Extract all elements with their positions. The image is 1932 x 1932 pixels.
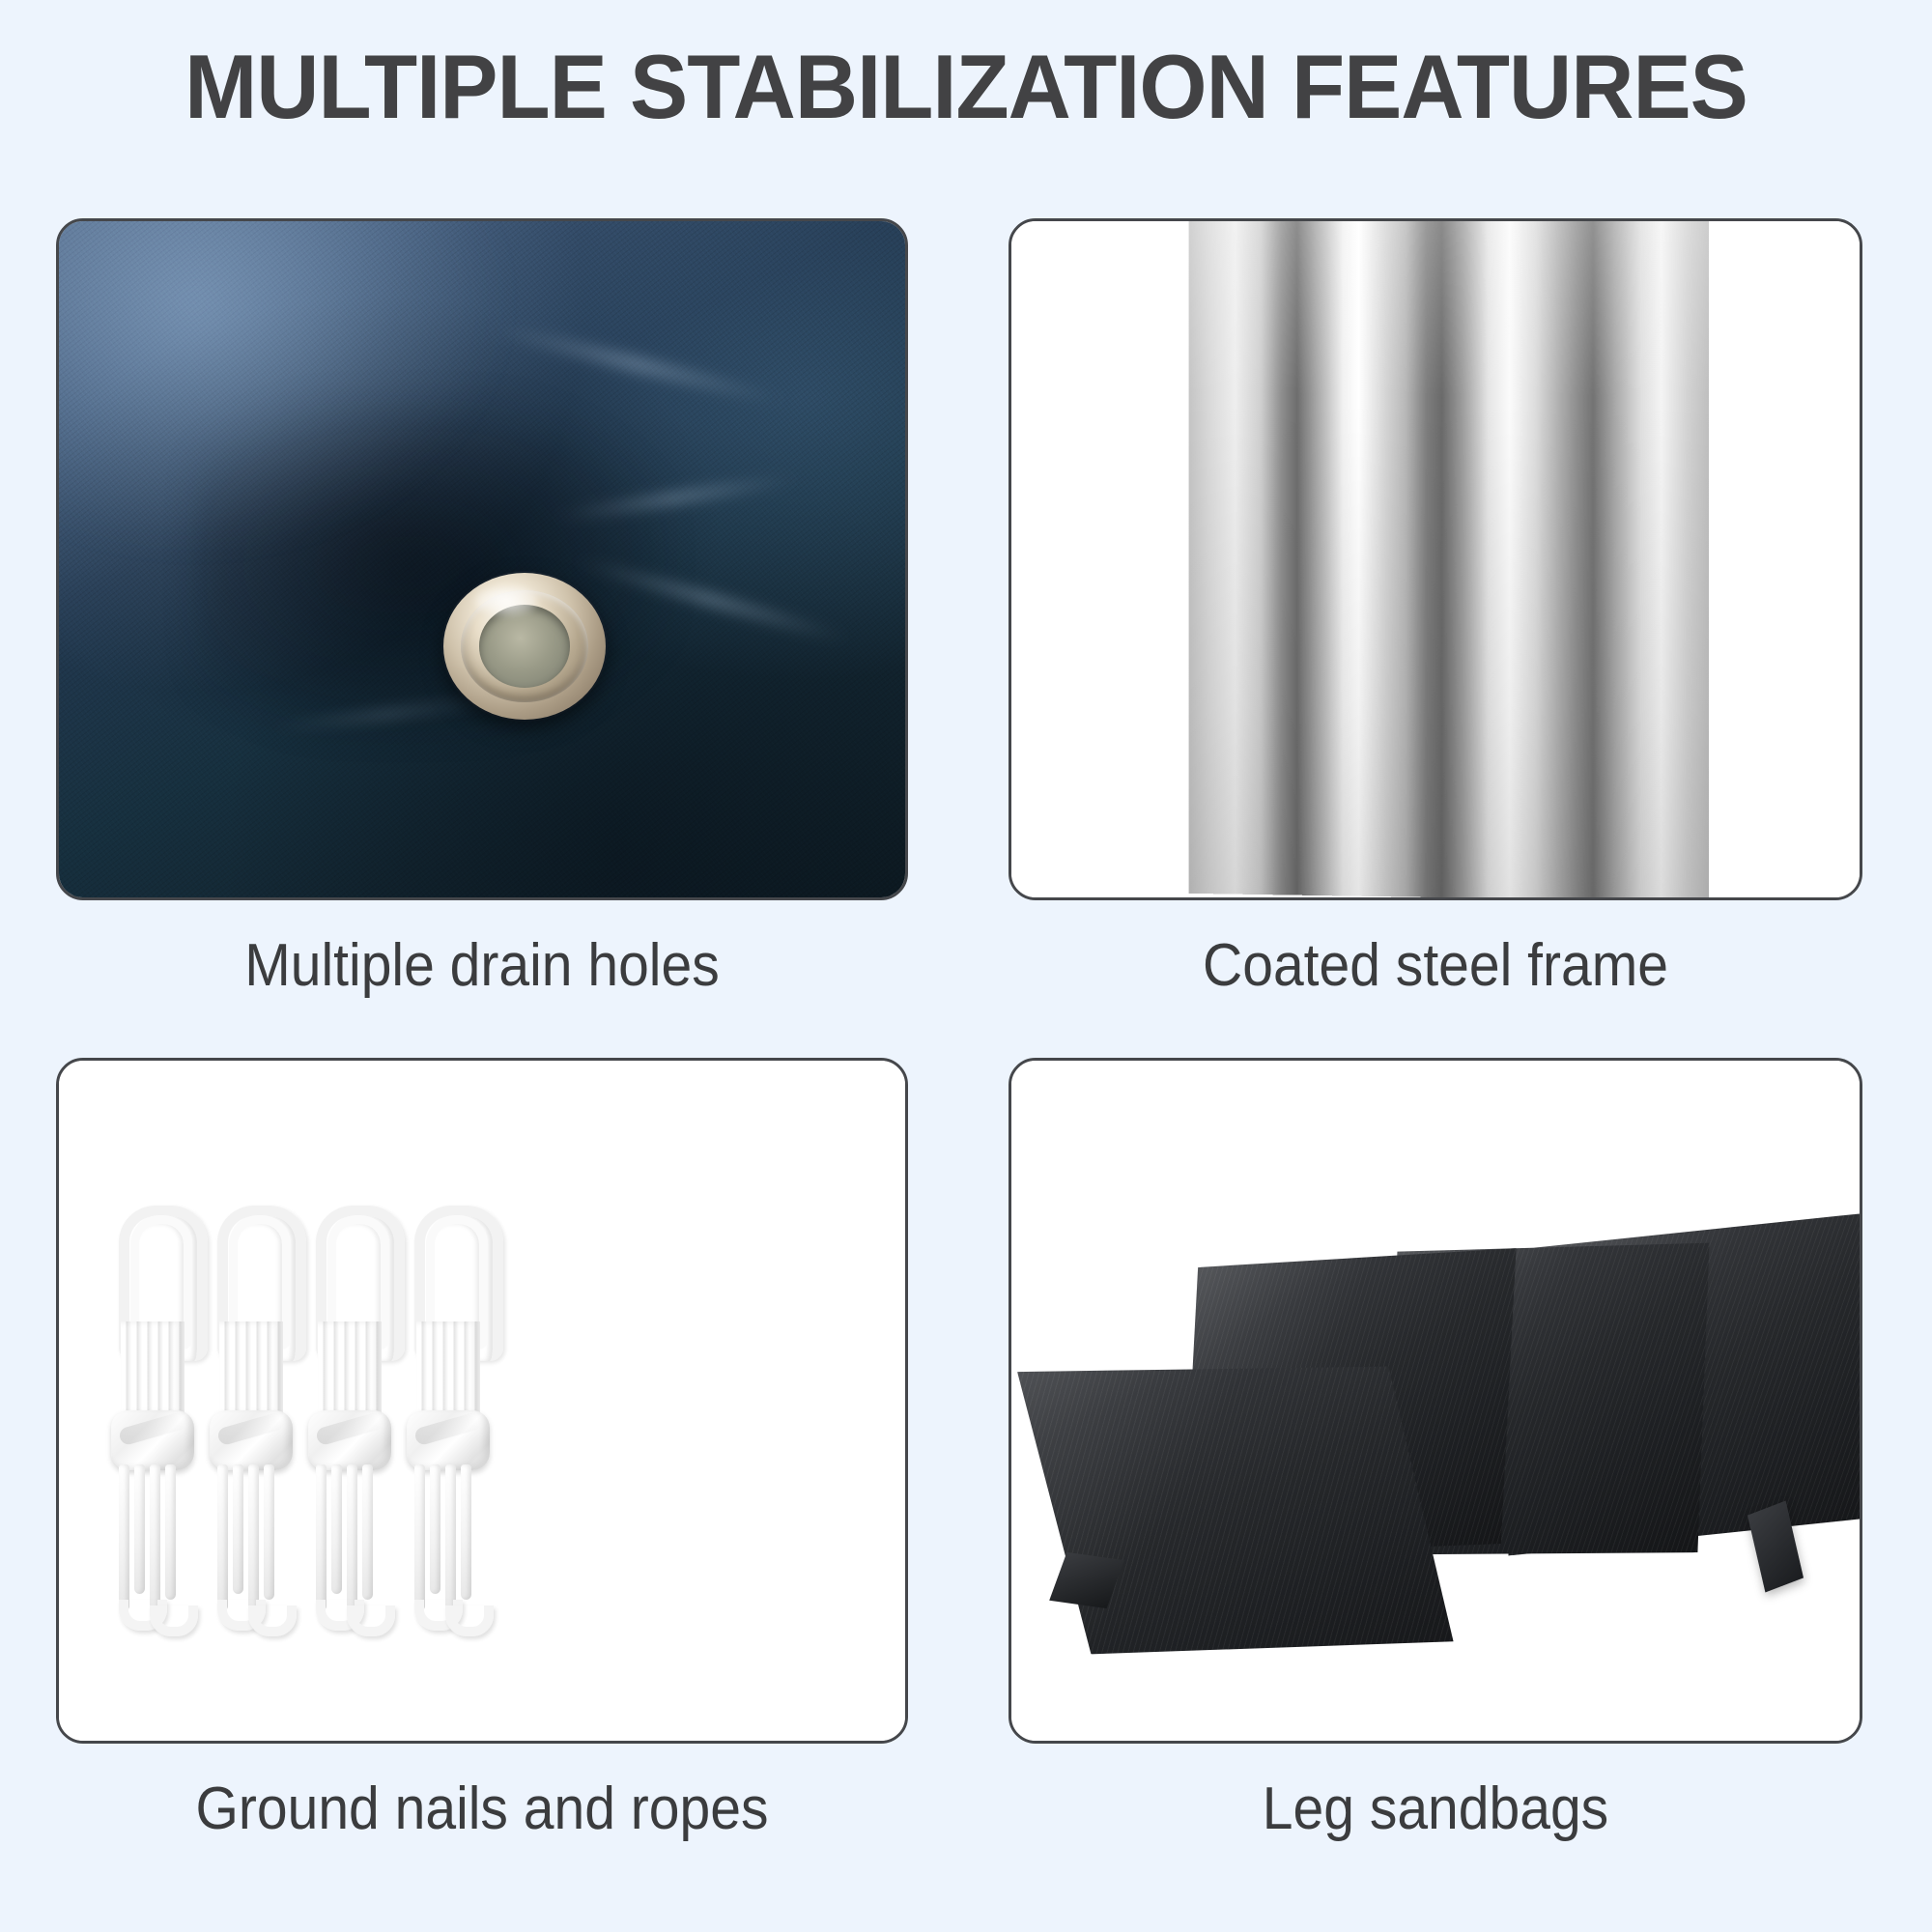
feature-image-drain-holes <box>56 218 908 900</box>
sandbag-photo <box>1011 1061 1860 1741</box>
hardware-photo <box>59 1061 905 1741</box>
guy-rope-coil <box>213 1206 289 1611</box>
steel-tube-group <box>1016 221 1862 900</box>
steel-tubes <box>1189 221 1709 900</box>
fabric-sheen <box>56 218 499 546</box>
infographic-page: MULTIPLE STABILIZATION FEATURES Multiple… <box>0 0 1932 1932</box>
steel-frame-photo <box>1011 221 1860 897</box>
guy-rope-coil <box>115 1206 190 1611</box>
feature-caption-leg-sandbags: Leg sandbags <box>1042 1775 1828 1843</box>
feature-image-steel-frame <box>1009 218 1862 900</box>
sandbag <box>1015 1327 1457 1693</box>
guy-rope-coil <box>312 1206 387 1611</box>
guy-rope-coil <box>411 1206 486 1611</box>
feature-cell-leg-sandbags: Leg sandbags <box>1009 1058 1862 1744</box>
feature-image-leg-sandbags <box>1009 1058 1862 1744</box>
feature-cell-steel-frame: Coated steel frame <box>1009 218 1862 900</box>
feature-caption-steel-frame: Coated steel frame <box>1042 931 1828 1000</box>
feature-caption-nails-ropes: Ground nails and ropes <box>90 1775 873 1843</box>
feature-grid: Multiple drain holes Coated steel frame <box>0 0 1932 1932</box>
feature-cell-drain-holes: Multiple drain holes <box>56 218 908 900</box>
feature-cell-nails-ropes: Ground nails and ropes <box>56 1058 908 1744</box>
grommet-icon <box>443 573 606 720</box>
steel-gloss <box>1189 221 1709 900</box>
feature-image-nails-ropes <box>56 1058 908 1744</box>
feature-caption-drain-holes: Multiple drain holes <box>90 931 873 1000</box>
